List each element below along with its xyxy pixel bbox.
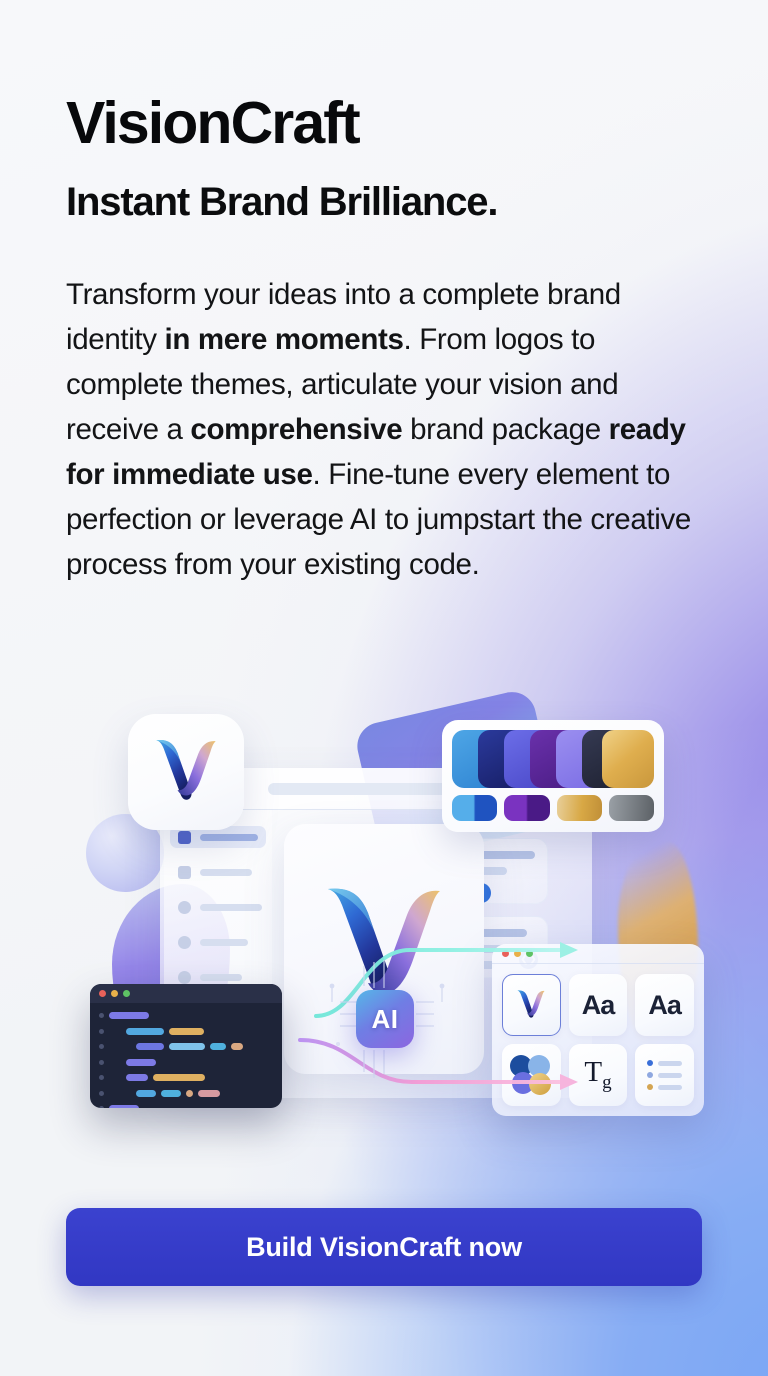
code-token bbox=[136, 1090, 156, 1097]
description-text-3: brand package bbox=[402, 413, 608, 446]
close-icon[interactable] bbox=[99, 990, 106, 997]
code-line bbox=[99, 1104, 273, 1108]
line-marker bbox=[99, 1013, 104, 1018]
minimize-icon[interactable] bbox=[111, 990, 118, 997]
line-marker bbox=[99, 1091, 104, 1096]
code-line bbox=[99, 1058, 273, 1067]
palette-swatch-row bbox=[452, 730, 654, 788]
sidebar-item-label bbox=[200, 939, 248, 946]
sidebar-item-label bbox=[200, 869, 252, 876]
code-token bbox=[186, 1090, 193, 1097]
code-token bbox=[126, 1074, 148, 1081]
page-subtitle: Instant Brand Brilliance. bbox=[66, 180, 497, 225]
cta-button[interactable]: Build VisionCraft now bbox=[66, 1208, 702, 1286]
description-paragraph: Transform your ideas into a complete bra… bbox=[66, 272, 700, 587]
code-token bbox=[161, 1090, 181, 1097]
circle-icon bbox=[178, 936, 191, 949]
line-marker bbox=[99, 1106, 104, 1108]
palette-pill[interactable] bbox=[452, 795, 497, 821]
sidebar-item-label bbox=[200, 974, 242, 981]
gear-icon bbox=[178, 971, 191, 984]
app-icon-card bbox=[128, 714, 244, 830]
palette-pill[interactable] bbox=[609, 795, 654, 821]
sidebar-item-grid[interactable] bbox=[170, 861, 266, 883]
maximize-icon[interactable] bbox=[123, 990, 130, 997]
code-token bbox=[109, 1105, 139, 1108]
editor-code-area[interactable] bbox=[90, 1003, 282, 1108]
code-line bbox=[99, 1027, 273, 1036]
line-marker bbox=[99, 1060, 104, 1065]
code-line bbox=[99, 1089, 273, 1098]
palette-pill[interactable] bbox=[504, 795, 549, 821]
code-token bbox=[126, 1059, 156, 1066]
code-token bbox=[198, 1090, 220, 1097]
page-title: VisionCraft bbox=[66, 93, 359, 154]
sidebar-item-circle[interactable] bbox=[170, 931, 266, 953]
color-palette-panel bbox=[442, 720, 664, 832]
code-token bbox=[126, 1028, 164, 1035]
code-editor-window bbox=[90, 984, 282, 1108]
code-token bbox=[169, 1028, 204, 1035]
code-token bbox=[231, 1043, 243, 1050]
home-icon bbox=[178, 831, 191, 844]
editor-titlebar bbox=[90, 984, 282, 1003]
palette-pill[interactable] bbox=[557, 795, 602, 821]
code-line bbox=[99, 1011, 273, 1020]
brand-logo-icon bbox=[153, 737, 219, 807]
hero-illustration: ❮❯ bbox=[64, 662, 704, 1162]
ai-badge[interactable]: AI bbox=[356, 990, 414, 1048]
palette-pill-row bbox=[452, 795, 654, 821]
description-bold-1: in mere moments bbox=[165, 323, 404, 356]
description-bold-2: comprehensive bbox=[190, 413, 402, 446]
line-marker bbox=[99, 1029, 104, 1034]
code-token bbox=[210, 1043, 226, 1050]
line-marker bbox=[99, 1044, 104, 1049]
sidebar-item-globe[interactable] bbox=[170, 896, 266, 918]
globe-icon bbox=[178, 901, 191, 914]
palette-swatch[interactable] bbox=[602, 730, 654, 788]
code-line bbox=[99, 1042, 273, 1051]
grid-icon bbox=[178, 866, 191, 879]
code-token bbox=[136, 1043, 164, 1050]
code-token bbox=[153, 1074, 205, 1081]
sidebar-item-label bbox=[200, 904, 262, 911]
code-token bbox=[169, 1043, 205, 1050]
sidebar-item-label bbox=[200, 834, 258, 841]
code-line bbox=[99, 1073, 273, 1082]
code-token bbox=[109, 1012, 149, 1019]
line-marker bbox=[99, 1075, 104, 1080]
